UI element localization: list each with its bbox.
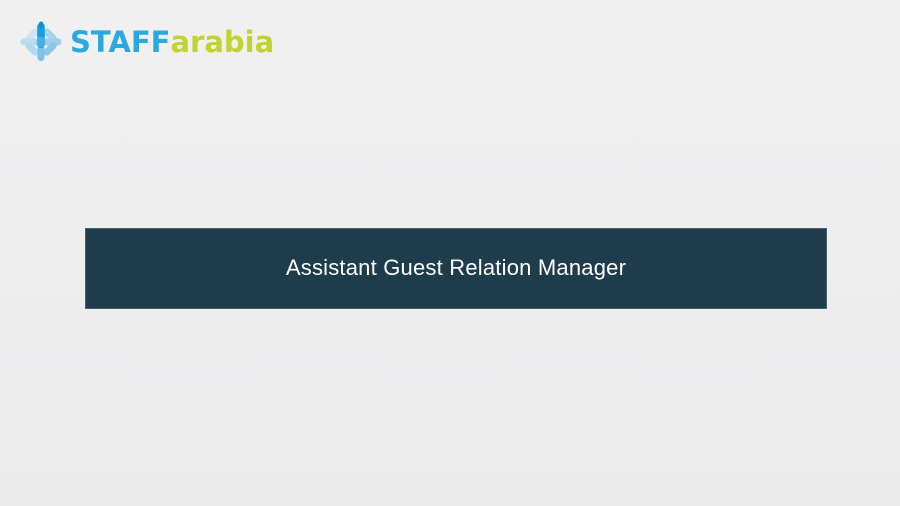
page-title: Assistant Guest Relation Manager (286, 255, 626, 281)
logo-word-arabia: arabia (170, 28, 274, 57)
title-banner: Assistant Guest Relation Manager (85, 228, 827, 309)
staffarabia-logo[interactable]: staff arabia (18, 16, 278, 68)
slide-canvas: staff arabia Assistant Guest Relation Ma… (0, 0, 900, 506)
logo-word-staff: staff (70, 28, 170, 57)
snowflake-burst-icon (18, 19, 64, 65)
logo-wordmark: staff arabia (70, 28, 274, 57)
